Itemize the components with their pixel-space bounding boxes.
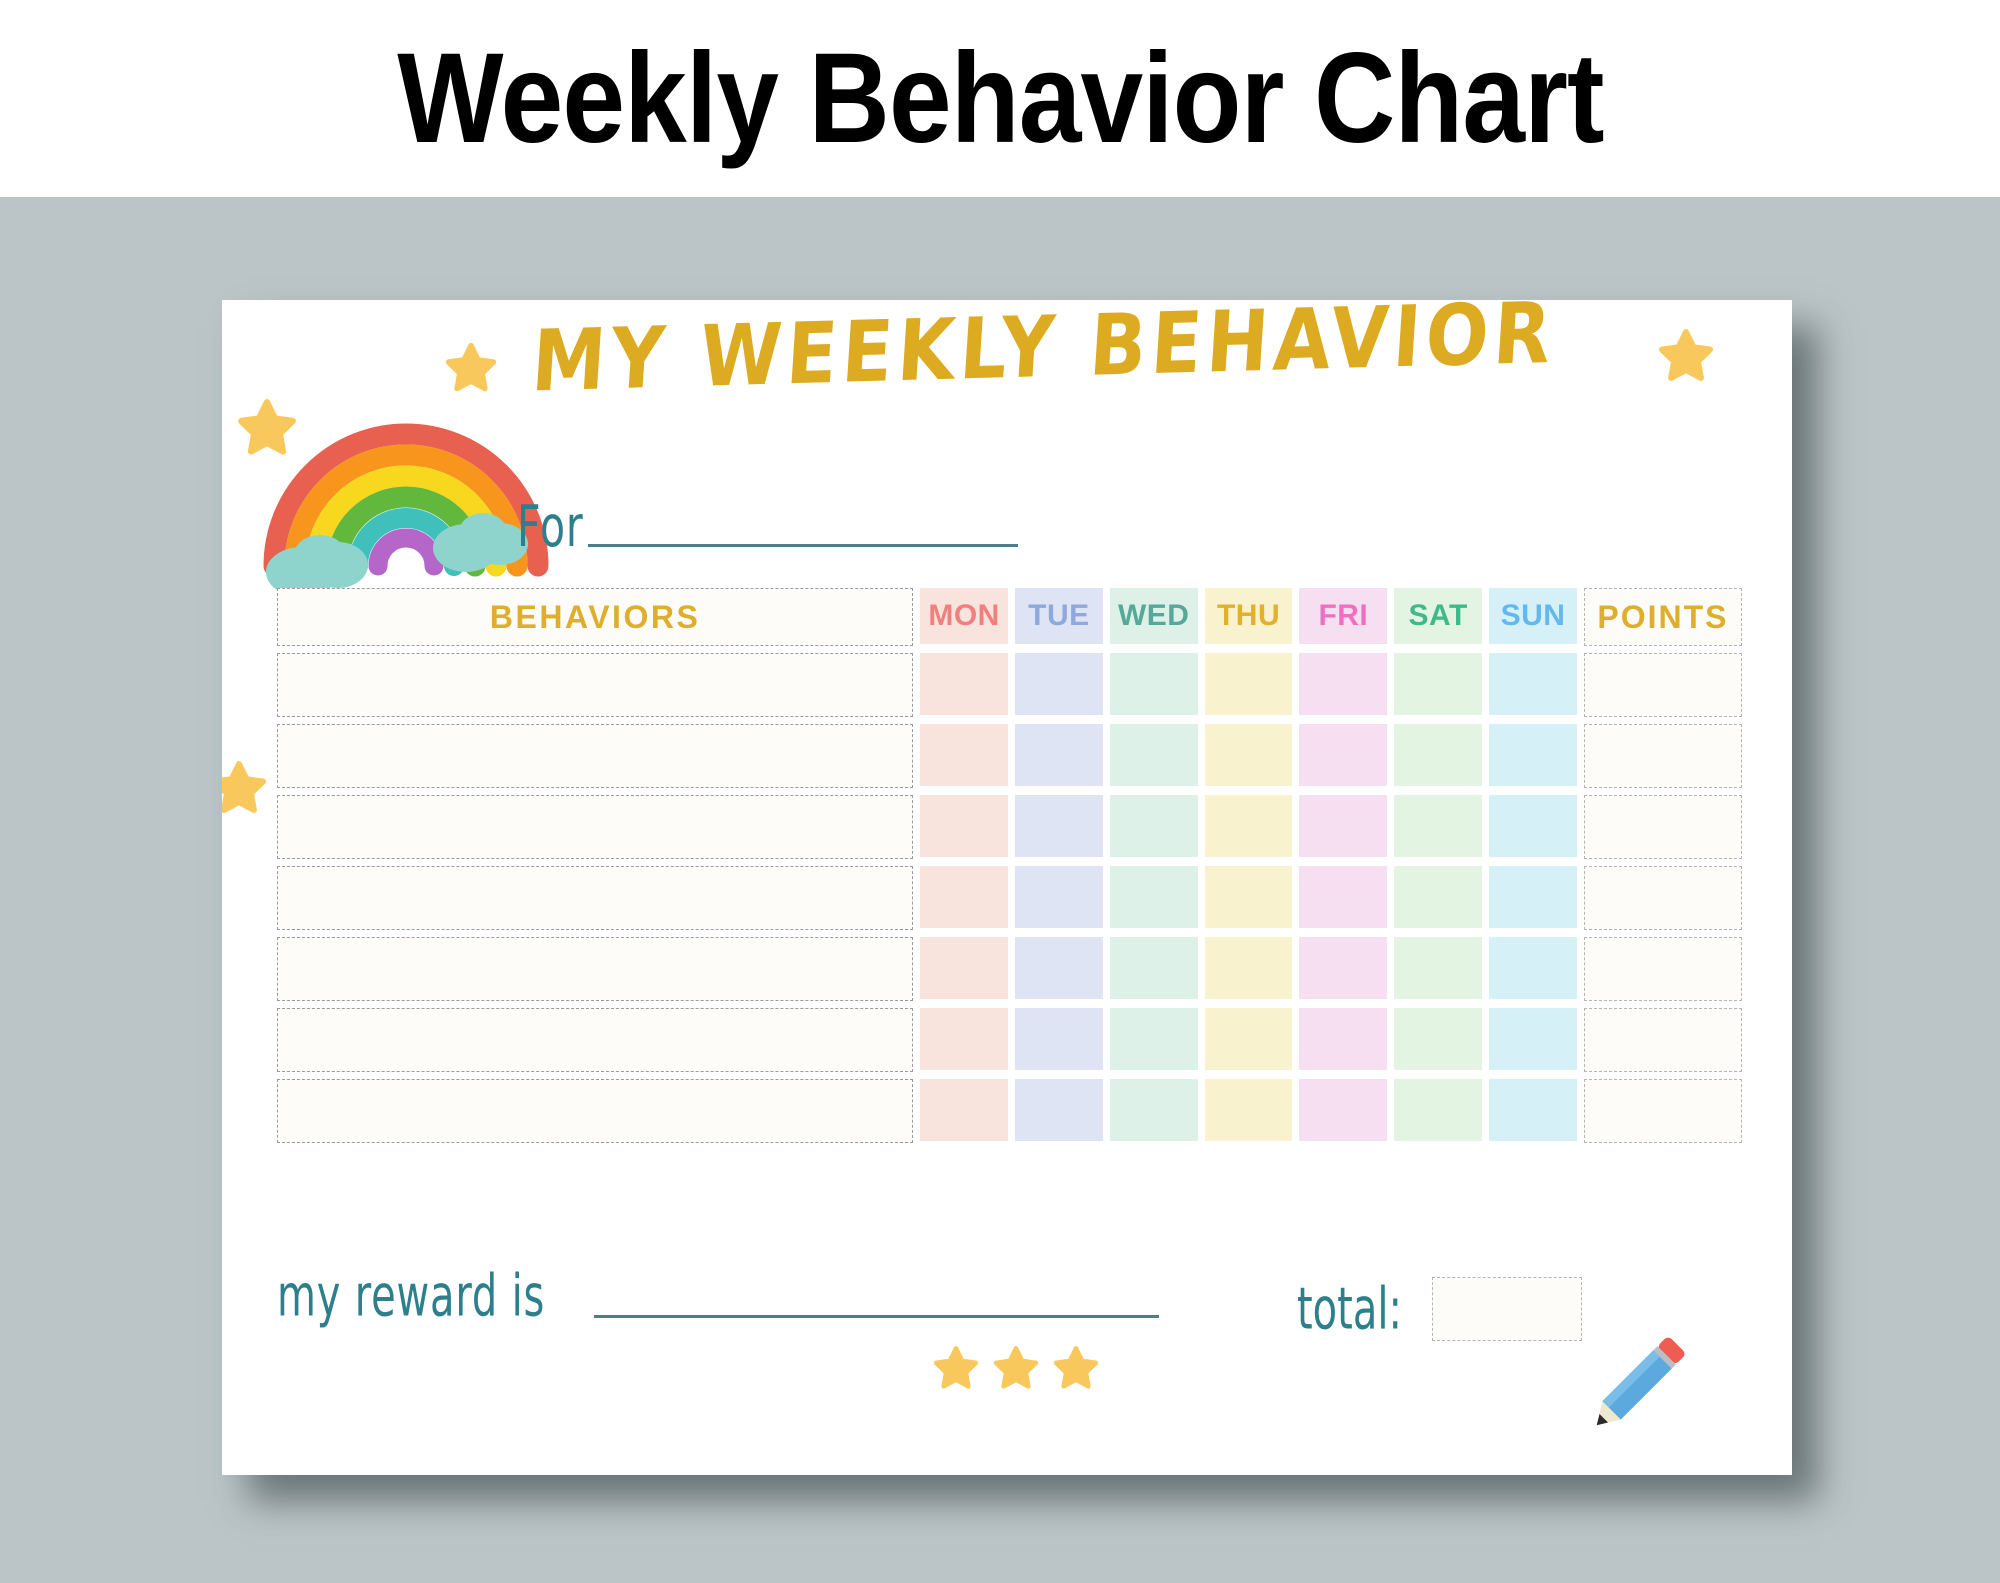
mark-cell-mon[interactable] — [920, 1079, 1008, 1141]
header-cell-wed: WED — [1110, 588, 1198, 644]
mark-cell-mon[interactable] — [920, 653, 1008, 715]
table-row — [277, 795, 1742, 859]
mark-cell-fri[interactable] — [1299, 866, 1387, 928]
mark-cell-sun[interactable] — [1489, 795, 1577, 857]
mark-cell-sun[interactable] — [1489, 653, 1577, 715]
table-row — [277, 866, 1742, 930]
day-label-sat: SAT — [1409, 599, 1468, 633]
mark-cell-sat[interactable] — [1394, 866, 1482, 928]
behavior-table: BEHAVIORS MON TUE WED THU FRI SAT SUN — [277, 588, 1742, 1150]
chart-heading-text: MY WEEKLY BEHAVIOR — [529, 300, 1558, 409]
mark-cell-fri[interactable] — [1299, 1079, 1387, 1141]
mark-cell-tue[interactable] — [1015, 937, 1103, 999]
day-label-mon: MON — [928, 599, 1000, 633]
behavior-chart-card: MY WEEKLY BEHAVIOR For BEHAVIORS MON TUE… — [222, 300, 1792, 1475]
mark-cell-tue[interactable] — [1015, 1008, 1103, 1070]
header-cell-fri: FRI — [1299, 588, 1387, 644]
day-label-tue: TUE — [1028, 599, 1090, 633]
star-icon-reward-2 — [992, 1345, 1040, 1393]
header-cell-thu: THU — [1205, 588, 1293, 644]
mark-cell-sat[interactable] — [1394, 1079, 1482, 1141]
header-cell-points: POINTS — [1584, 588, 1742, 646]
mark-cell-wed[interactable] — [1110, 1008, 1198, 1070]
points-input-cell[interactable] — [1584, 937, 1742, 1001]
table-row — [277, 1079, 1742, 1143]
points-header-label: POINTS — [1597, 599, 1728, 636]
mark-cell-tue[interactable] — [1015, 724, 1103, 786]
mark-cell-wed[interactable] — [1110, 724, 1198, 786]
mark-cell-sat[interactable] — [1394, 724, 1482, 786]
behavior-input-cell[interactable] — [277, 653, 913, 717]
total-field-row: total: — [1297, 1277, 1582, 1341]
for-input-line[interactable] — [588, 544, 1018, 547]
points-input-cell[interactable] — [1584, 1079, 1742, 1143]
mark-cell-sat[interactable] — [1394, 795, 1482, 857]
behavior-input-cell[interactable] — [277, 866, 913, 930]
behavior-input-cell[interactable] — [277, 937, 913, 1001]
header-cell-tue: TUE — [1015, 588, 1103, 644]
mark-cell-mon[interactable] — [920, 724, 1008, 786]
mark-cell-fri[interactable] — [1299, 1008, 1387, 1070]
total-input-box[interactable] — [1432, 1277, 1582, 1341]
page-title: Weekly Behavior Chart — [397, 35, 1603, 163]
for-field-row: For — [517, 505, 1018, 555]
mark-cell-tue[interactable] — [1015, 795, 1103, 857]
mark-cell-mon[interactable] — [920, 1008, 1008, 1070]
mark-cell-sun[interactable] — [1489, 1079, 1577, 1141]
mark-cell-sun[interactable] — [1489, 866, 1577, 928]
mark-cell-sat[interactable] — [1394, 1008, 1482, 1070]
for-label: For — [517, 498, 584, 555]
mark-cell-thu[interactable] — [1205, 653, 1293, 715]
points-input-cell[interactable] — [1584, 653, 1742, 717]
mark-cell-wed[interactable] — [1110, 1079, 1198, 1141]
star-icon-rainbow-left — [236, 398, 298, 460]
star-icon-left-middle — [222, 760, 268, 818]
reward-input-line[interactable] — [594, 1315, 1159, 1318]
mark-cell-sat[interactable] — [1394, 653, 1482, 715]
behavior-input-cell[interactable] — [277, 1008, 913, 1072]
mark-cell-wed[interactable] — [1110, 795, 1198, 857]
mark-cell-wed[interactable] — [1110, 937, 1198, 999]
mark-cell-fri[interactable] — [1299, 653, 1387, 715]
mark-cell-thu[interactable] — [1205, 795, 1293, 857]
mark-cell-tue[interactable] — [1015, 1079, 1103, 1141]
mark-cell-fri[interactable] — [1299, 937, 1387, 999]
mark-cell-wed[interactable] — [1110, 653, 1198, 715]
star-icon-top-right — [1657, 328, 1715, 386]
points-input-cell[interactable] — [1584, 1008, 1742, 1072]
mark-cell-fri[interactable] — [1299, 795, 1387, 857]
day-label-sun: SUN — [1501, 599, 1566, 633]
mark-cell-thu[interactable] — [1205, 866, 1293, 928]
behavior-input-cell[interactable] — [277, 724, 913, 788]
chart-footer: my reward is total: — [277, 1275, 1742, 1395]
mark-cell-thu[interactable] — [1205, 724, 1293, 786]
mark-cell-sat[interactable] — [1394, 937, 1482, 999]
mark-cell-thu[interactable] — [1205, 1079, 1293, 1141]
reward-field-row: my reward is — [277, 1275, 1159, 1325]
mark-cell-thu[interactable] — [1205, 1008, 1293, 1070]
header-cell-sun: SUN — [1489, 588, 1577, 644]
table-row — [277, 1008, 1742, 1072]
table-row — [277, 653, 1742, 717]
mark-cell-fri[interactable] — [1299, 724, 1387, 786]
mark-cell-sun[interactable] — [1489, 937, 1577, 999]
mark-cell-mon[interactable] — [920, 795, 1008, 857]
mark-cell-tue[interactable] — [1015, 653, 1103, 715]
header-cell-mon: MON — [920, 588, 1008, 644]
day-label-thu: THU — [1217, 599, 1280, 633]
table-header-row: BEHAVIORS MON TUE WED THU FRI SAT SUN — [277, 588, 1742, 646]
total-label: total: — [1297, 1280, 1402, 1338]
points-input-cell[interactable] — [1584, 724, 1742, 788]
reward-stars-group — [932, 1345, 1100, 1393]
day-label-wed: WED — [1118, 599, 1190, 633]
header-cell-behaviors: BEHAVIORS — [277, 588, 913, 646]
day-label-fri: FRI — [1318, 599, 1368, 633]
chart-heading: MY WEEKLY BEHAVIOR — [532, 322, 1662, 442]
mark-cell-wed[interactable] — [1110, 866, 1198, 928]
behavior-input-cell[interactable] — [277, 795, 913, 859]
pencil-icon — [1572, 1320, 1702, 1450]
behaviors-header-label: BEHAVIORS — [490, 599, 700, 636]
page-banner: Weekly Behavior Chart — [0, 0, 2000, 197]
star-icon-reward-1 — [932, 1345, 980, 1393]
mark-cell-mon[interactable] — [920, 866, 1008, 928]
mark-cell-mon[interactable] — [920, 937, 1008, 999]
points-input-cell[interactable] — [1584, 795, 1742, 859]
mark-cell-sun[interactable] — [1489, 724, 1577, 786]
reward-label: my reward is — [277, 1267, 545, 1325]
table-row — [277, 937, 1742, 1001]
table-row — [277, 724, 1742, 788]
header-cell-sat: SAT — [1394, 588, 1482, 644]
points-input-cell[interactable] — [1584, 866, 1742, 930]
mark-cell-thu[interactable] — [1205, 937, 1293, 999]
star-icon-rainbow-right — [444, 342, 498, 396]
star-icon-reward-3 — [1052, 1345, 1100, 1393]
mark-cell-sun[interactable] — [1489, 1008, 1577, 1070]
mark-cell-tue[interactable] — [1015, 866, 1103, 928]
behavior-input-cell[interactable] — [277, 1079, 913, 1143]
